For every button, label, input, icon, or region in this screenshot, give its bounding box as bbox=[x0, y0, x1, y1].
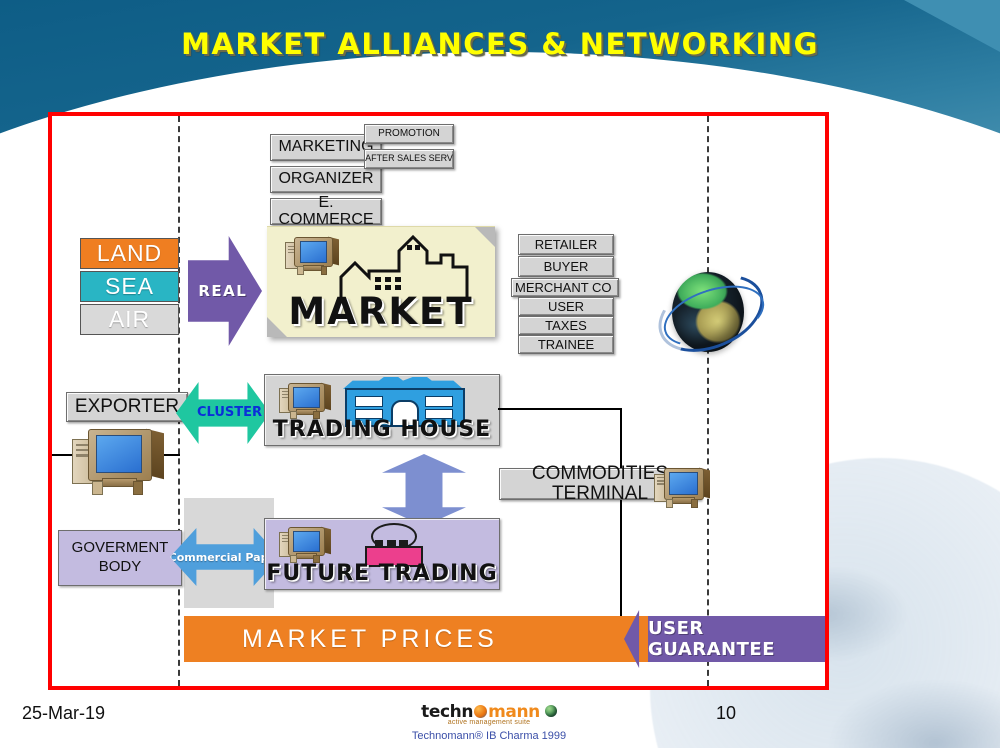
market-prices-label: MARKET PRICES bbox=[242, 625, 498, 654]
user-guarantee-bar[interactable]: USER GUARANTEE bbox=[648, 616, 826, 662]
trading-house-computer-icon bbox=[279, 381, 331, 419]
connector-vertical bbox=[620, 408, 622, 622]
cluster-arrow[interactable]: CLUSTER bbox=[176, 382, 270, 444]
market-label: MARKET bbox=[267, 290, 495, 333]
exporter-box[interactable]: EXPORTER bbox=[66, 392, 188, 422]
stakeholder-buyer[interactable]: BUYER bbox=[518, 256, 614, 277]
connector-th-right bbox=[498, 408, 622, 410]
government-body-label: GOVERMENT BODY bbox=[59, 539, 181, 577]
stakeholder-taxes[interactable]: TAXES bbox=[518, 316, 614, 335]
future-trading-box[interactable]: FUTURE TRADING bbox=[264, 518, 500, 590]
label-ecommerce[interactable]: E. COMMERCE bbox=[270, 198, 382, 225]
future-trading-computer-icon bbox=[279, 525, 331, 563]
logo-globe-icon bbox=[545, 705, 557, 717]
diagram-canvas: MARKETING ORGANIZER E. COMMERCE PROMOTIO… bbox=[52, 116, 825, 686]
transport-land[interactable]: LAND bbox=[80, 238, 179, 269]
computer-icon bbox=[285, 235, 339, 275]
technomann-logo: technmann active management suite bbox=[399, 702, 579, 726]
footer-caption: Technomann® IB Charma 1999 bbox=[369, 730, 609, 742]
market-plate[interactable]: MARKET bbox=[267, 226, 495, 337]
slide-title: MARKET ALLIANCES & NETWORKING bbox=[0, 27, 1000, 61]
vertical-double-arrow[interactable] bbox=[382, 454, 466, 526]
cluster-arrow-label: CLUSTER bbox=[197, 406, 249, 420]
footer-date: 25-Mar-19 bbox=[22, 703, 105, 724]
government-body-box[interactable]: GOVERMENT BODY bbox=[58, 530, 182, 586]
transport-air[interactable]: AIR bbox=[80, 304, 179, 335]
label-promotion[interactable]: PROMOTION bbox=[364, 124, 454, 144]
user-guarantee-label: USER GUARANTEE bbox=[648, 618, 826, 660]
logo-globe-dot-icon bbox=[474, 705, 487, 718]
label-after-sales-serv[interactable]: AFTER SALES SERV bbox=[364, 149, 454, 169]
transport-sea[interactable]: SEA bbox=[80, 271, 179, 302]
market-prices-bar[interactable]: MARKET PRICES bbox=[184, 616, 692, 662]
slide: MARKET ALLIANCES & NETWORKING MARKETING … bbox=[0, 0, 1000, 748]
stakeholder-user[interactable]: USER bbox=[518, 297, 614, 316]
real-arrow-label: REAL bbox=[198, 282, 247, 300]
diagram-frame: MARKETING ORGANIZER E. COMMERCE PROMOTIO… bbox=[48, 112, 829, 690]
stakeholder-trainee[interactable]: TRAINEE bbox=[518, 335, 614, 354]
label-organizer[interactable]: ORGANIZER bbox=[270, 166, 382, 193]
stakeholder-retailer[interactable]: RETAILER bbox=[518, 234, 614, 255]
real-arrow[interactable]: REAL bbox=[188, 236, 262, 346]
exporter-computer-icon bbox=[72, 426, 164, 496]
stakeholder-merchant-co[interactable]: MERCHANT CO bbox=[511, 278, 619, 297]
terminal-computer-icon bbox=[654, 466, 710, 508]
column-divider-right bbox=[707, 116, 709, 686]
trading-house-box[interactable]: TRADING HOUSE bbox=[264, 374, 500, 446]
world-globe-icon bbox=[660, 264, 756, 360]
footer-page-number: 10 bbox=[716, 703, 736, 724]
future-trading-label: FUTURE TRADING bbox=[265, 561, 499, 586]
trading-house-label: TRADING HOUSE bbox=[265, 417, 499, 442]
